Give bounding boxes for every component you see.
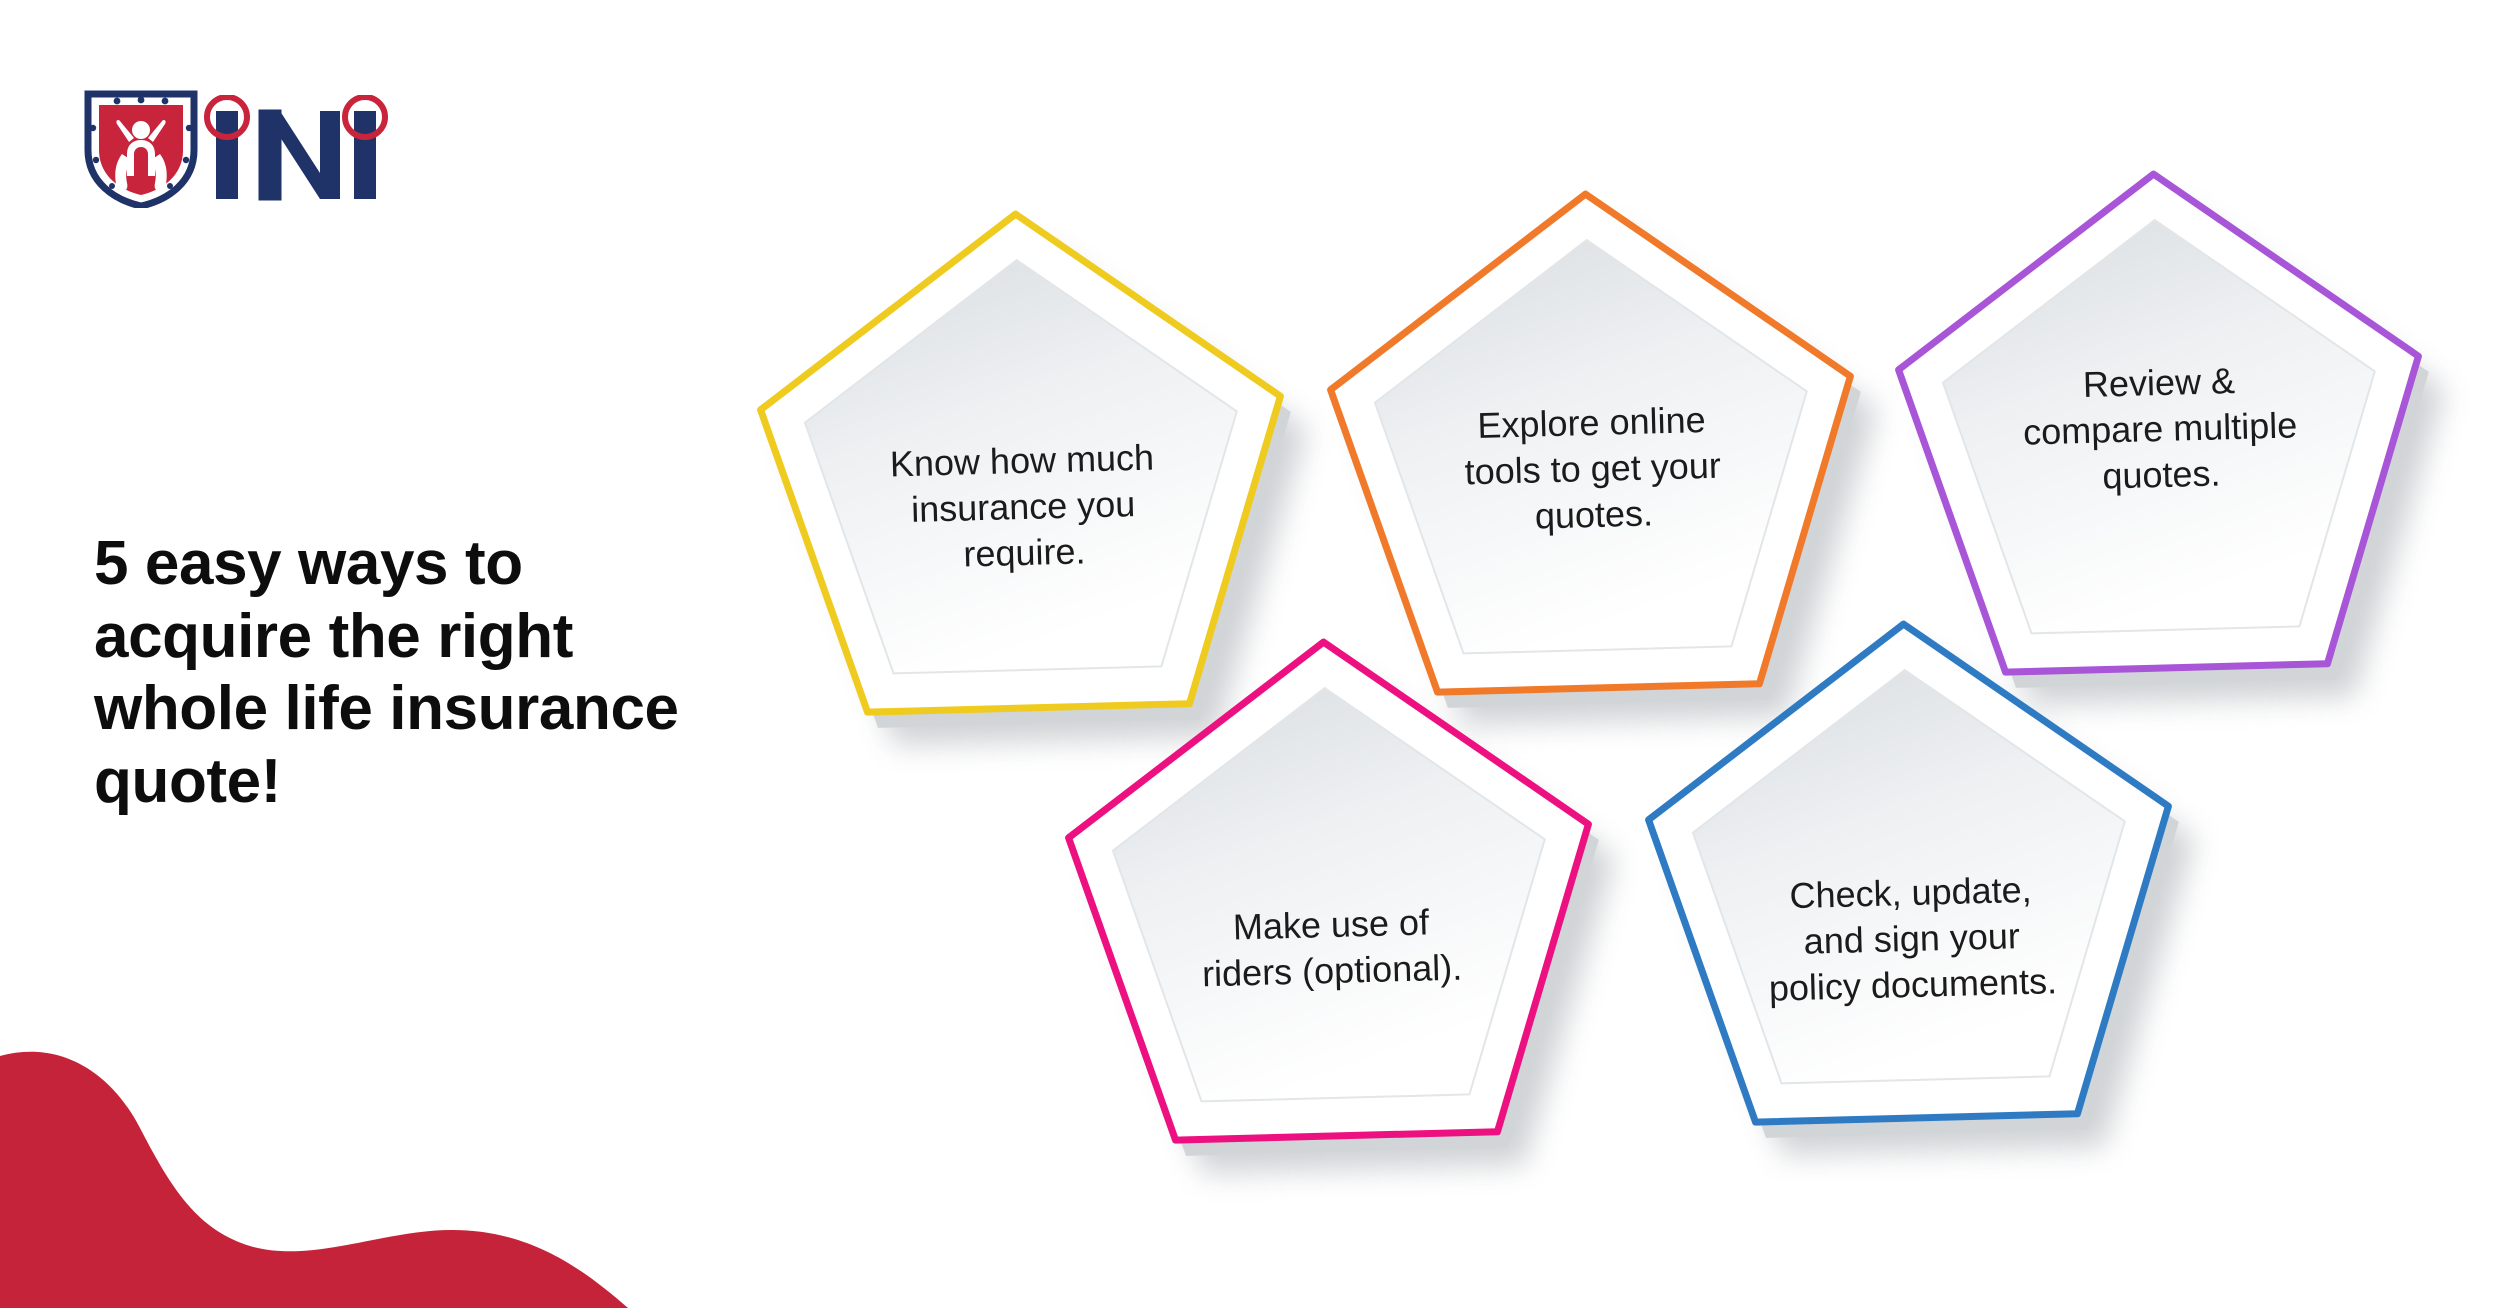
shield-with-person-icon: [82, 88, 200, 208]
step-card-5[interactable]: Check, update, and sign your policy docu…: [1623, 591, 2197, 1150]
brand-logo: [82, 88, 412, 208]
pentagon-shape-4: [1043, 609, 1617, 1168]
red-wave-shape: [0, 978, 780, 1308]
step-card-4[interactable]: Make use of riders (optional).: [1043, 609, 1617, 1168]
pentagon-shape-5: [1623, 591, 2197, 1150]
infographic-canvas: 5 easy ways to acquire the right whole l…: [0, 0, 2500, 1308]
logo-wordmark-ini: [196, 95, 392, 201]
